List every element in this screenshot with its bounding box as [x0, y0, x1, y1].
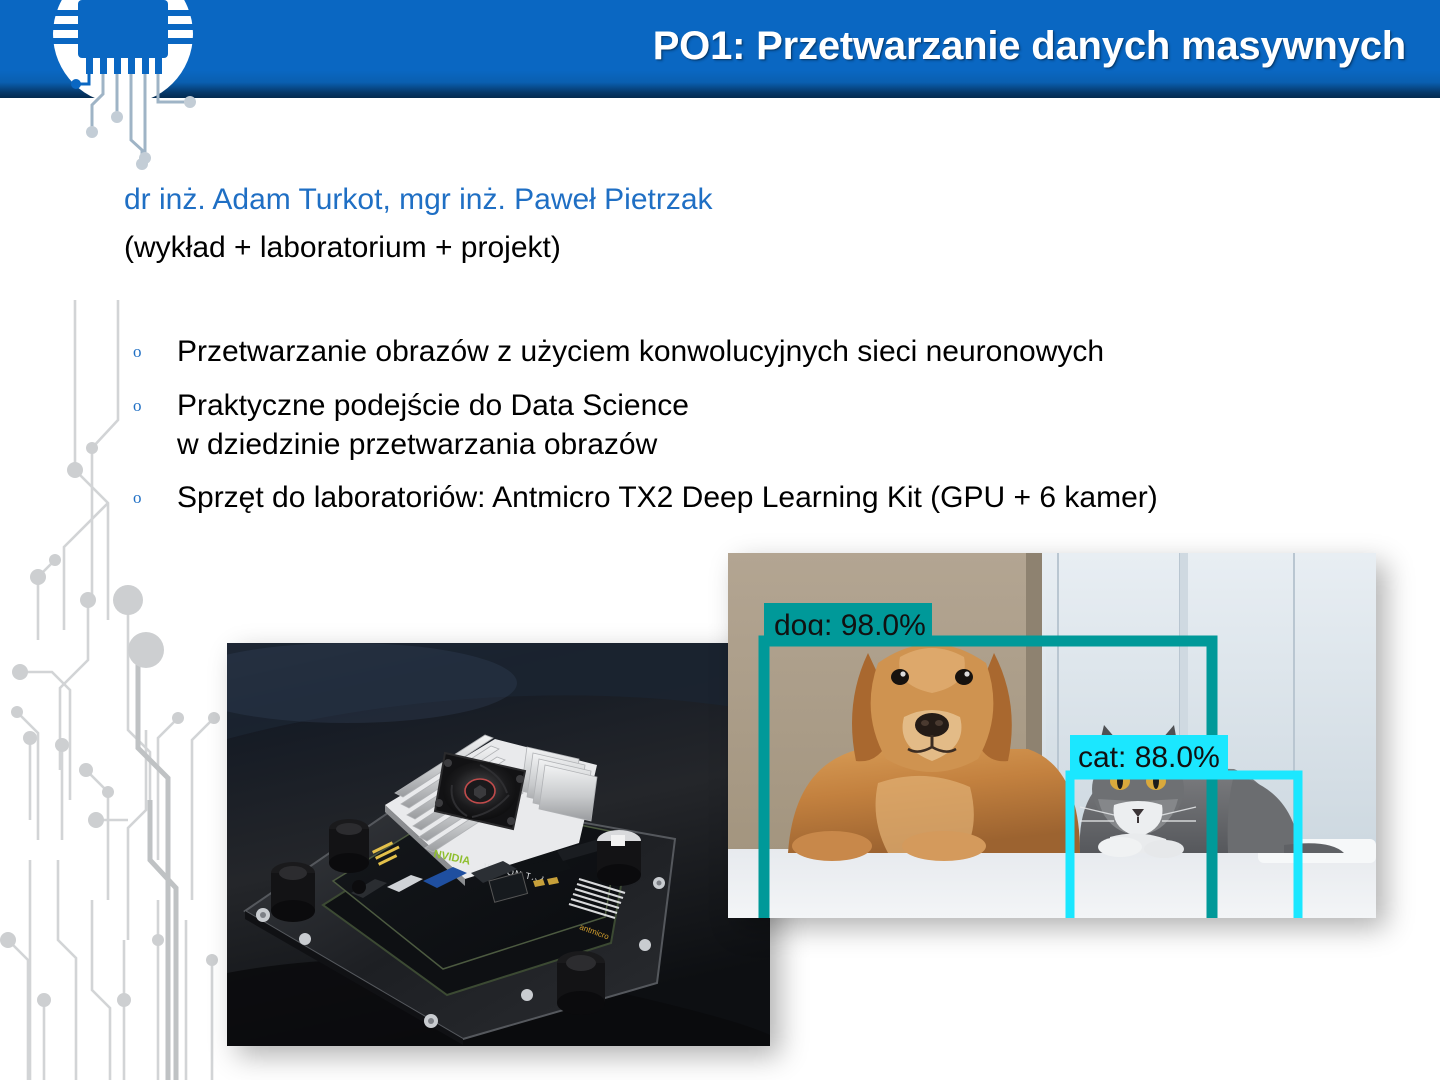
slide-header-band: PO1: Przetwarzanie danych masywnych — [0, 0, 1440, 98]
presenters-line: dr inż. Adam Turkot, mgr inż. Paweł Piet… — [124, 180, 1394, 220]
bullet-marker-icon: o — [133, 478, 177, 518]
bullet-marker-icon: o — [133, 332, 177, 372]
list-item-label: Przetwarzanie obrazów z użyciem konwoluc… — [177, 332, 1104, 371]
slide-root: PO1: Przetwarzanie danych masywnych — [0, 0, 1440, 1080]
microchip-logo — [30, 0, 216, 202]
list-item-label: Praktyczne podejście do Data Science w d… — [177, 386, 689, 464]
list-item: o Sprzęt do laboratoriów: Antmicro TX2 D… — [133, 478, 1423, 518]
list-item: o Przetwarzanie obrazów z użyciem konwol… — [133, 332, 1423, 372]
course-kind-line: (wykład + laboratorium + projekt) — [124, 228, 1394, 268]
jetson-board-photo: NVIDIA JETSON TX2 — [227, 643, 770, 1046]
bullet-marker-icon: o — [133, 386, 177, 426]
intro-text-block: dr inż. Adam Turkot, mgr inż. Paweł Piet… — [124, 180, 1394, 268]
list-item: o Praktyczne podejście do Data Science w… — [133, 386, 1423, 464]
bullet-list: o Przetwarzanie obrazów z użyciem konwol… — [133, 332, 1423, 532]
bbox-cat-label: cat: 88.0% — [1078, 741, 1220, 774]
object-detection-photo: dog: 98.0% cat: 88.0% — [728, 553, 1376, 918]
list-item-label: Sprzęt do laboratoriów: Antmicro TX2 Dee… — [177, 478, 1158, 517]
